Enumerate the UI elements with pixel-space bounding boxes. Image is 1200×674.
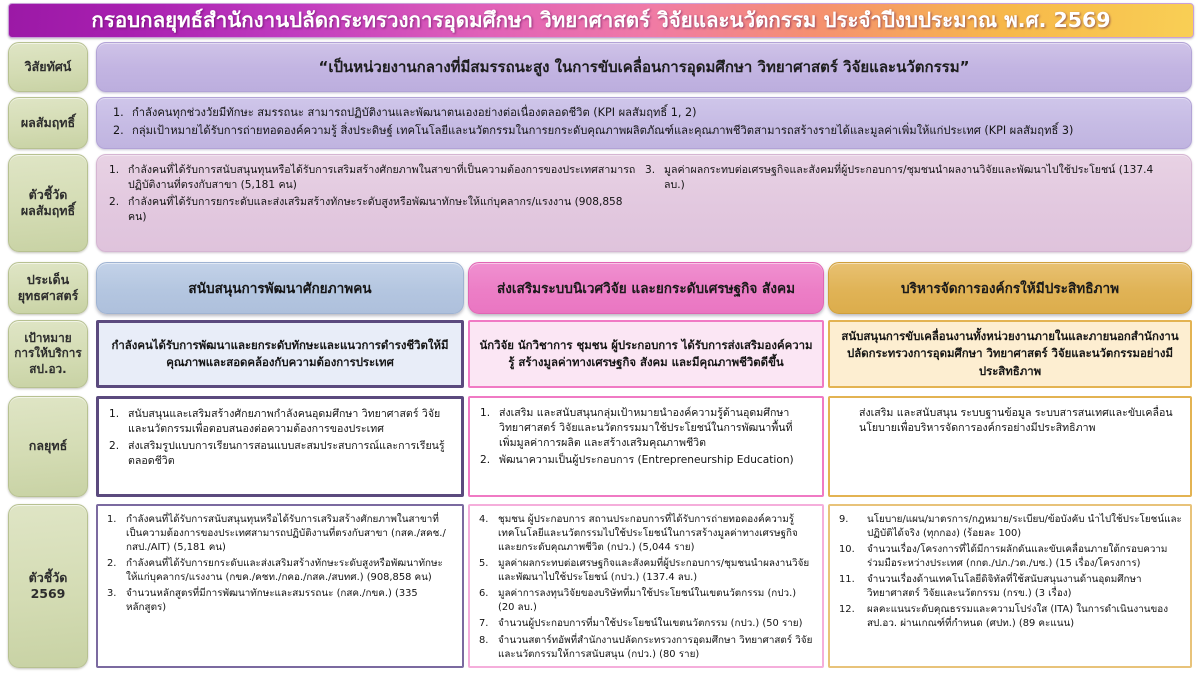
kpi-2-item: 5.มูลค่าผลกระทบต่อเศรษฐกิจและสังคมที่ผู้… <box>479 557 814 585</box>
kpi-3-item: 9.นโยบาย/แผน/มาตรการ/กฎหมาย/ระเบียบ/ข้อบ… <box>839 513 1182 541</box>
kpi-3-item-number: 9. <box>839 513 863 541</box>
outcome-item: 2.กลุ่มเป้าหมายได้รับการถ่ายทอดองค์ความร… <box>113 123 1179 139</box>
kpi-box-1: 1.กำลังคนที่ได้รับการสนับสนุนทุนหรือได้ร… <box>96 504 464 668</box>
kpi-1-item: 2.กำลังคนที่ได้รับการยกระดับและส่งเสริมส… <box>107 557 454 585</box>
rail-label-vision: วิสัยทัศน์ <box>8 42 88 92</box>
outcome-kpi-left-item-text: กำลังคนที่ได้รับการสนับสนุนทุนหรือได้รับ… <box>128 163 637 193</box>
kpi-2-item-number: 5. <box>479 557 494 585</box>
strategy-2-item: 1.ส่งเสริม และสนับสนุนกลุ่มเป้าหมายนำองค… <box>480 406 813 451</box>
strategic-framework-diagram: กรอบกลยุทธ์สำนักงานปลัดกระทรวงการอุดมศึก… <box>0 0 1200 674</box>
kpi-box-3: 9.นโยบาย/แผน/มาตรการ/กฎหมาย/ระเบียบ/ข้อบ… <box>828 504 1192 668</box>
strategy-2-item-text: พัฒนาความเป็นผู้ประกอบการ (Entrepreneurs… <box>499 453 813 468</box>
outcome-kpi-right-item-text: มูลค่าผลกระทบต่อเศรษฐกิจและสังคมที่ผู้ปร… <box>664 163 1173 193</box>
kpi-3-item-number: 10. <box>839 543 863 571</box>
rail-outcome-kpi-line1: ตัวชี้วัด <box>29 187 68 202</box>
strategy-2-item-number: 1. <box>480 406 495 451</box>
outcome-item-number: 2. <box>113 123 128 139</box>
strategy-1-item: 2.ส่งเสริมรูปแบบการเรียนการสอนแบบสะสมประ… <box>109 439 452 469</box>
strategy-box-1: 1.สนับสนุนและเสริมสร้างศักยภาพกำลังคนอุด… <box>96 396 464 497</box>
rail-label-service-goal: เป้าหมาย การให้บริการ สป.อว. <box>8 320 88 388</box>
kpi-list-3: 9.นโยบาย/แผน/มาตรการ/กฎหมาย/ระเบียบ/ข้อบ… <box>839 513 1182 632</box>
kpi-2-item-text: มูลค่าผลกระทบต่อเศรษฐกิจและสังคมที่ผู้ปร… <box>498 557 814 585</box>
vision-text: “เป็นหน่วยงานกลางที่มีสมรรถนะสูง ในการขั… <box>319 55 970 79</box>
outcome-kpi-left-item-number: 2. <box>109 195 124 225</box>
kpi-3-item-text: ผลคะแนนระดับคุณธรรมและความโปร่งใส (ITA) … <box>867 603 1182 631</box>
kpi-1-item-text: กำลังคนที่ได้รับการยกระดับและส่งเสริมสร้… <box>126 557 454 585</box>
strategy-3-item-number <box>840 406 855 436</box>
strategic-issue-2-label: ส่งเสริมระบบนิเวศวิจัย และยกระดับเศรษฐกิ… <box>497 277 795 299</box>
strategic-issue-1[interactable]: สนับสนุนการพัฒนาศักยภาพคน <box>96 262 464 314</box>
kpi-1-item: 1.กำลังคนที่ได้รับการสนับสนุนทุนหรือได้ร… <box>107 513 454 555</box>
kpi-2-item-number: 7. <box>479 617 494 631</box>
strategic-issue-2[interactable]: ส่งเสริมระบบนิเวศวิจัย และยกระดับเศรษฐกิ… <box>468 262 824 314</box>
service-goal-1-text: กำลังคนได้รับการพัฒนาและยกระดับทักษะและแ… <box>107 337 453 371</box>
kpi-2-item-text: มูลค่าการลงทุนวิจัยของบริษัทที่มาใช้ประโ… <box>498 587 814 615</box>
outcome-kpi-left-list: 1.กำลังคนที่ได้รับการสนับสนุนทุนหรือได้ร… <box>109 163 637 225</box>
strategy-2-item-text: ส่งเสริม และสนับสนุนกลุ่มเป้าหมายนำองค์ค… <box>499 406 813 451</box>
kpi-2-item-number: 6. <box>479 587 494 615</box>
outcome-item-text: กำลังคนทุกช่วงวัยมีทักษะ สมรรถนะ สามารถป… <box>132 105 1179 121</box>
strategic-issue-3-label: บริหารจัดการองค์กรให้มีประสิทธิภาพ <box>901 277 1119 299</box>
strategy-1-item-number: 2. <box>109 439 124 469</box>
kpi-2-item-number: 4. <box>479 513 494 555</box>
rail-goal-line2: การให้บริการ <box>14 346 82 360</box>
kpi-3-item: 11.จำนวนเรื่องด้านเทคโนโลยีดิจิทัลที่ใช้… <box>839 573 1182 601</box>
page-title: กรอบกลยุทธ์สำนักงานปลัดกระทรวงการอุดมศึก… <box>91 10 1110 31</box>
outcome-kpi-right-item: 3.มูลค่าผลกระทบต่อเศรษฐกิจและสังคมที่ผู้… <box>645 163 1173 193</box>
strategy-list-3: ส่งเสริม และสนับสนุน ระบบฐานข้อมูล ระบบส… <box>840 406 1181 436</box>
strategy-1-item-number: 1. <box>109 407 124 437</box>
strategy-2-item-number: 2. <box>480 453 495 468</box>
strategy-box-3: ส่งเสริม และสนับสนุน ระบบฐานข้อมูล ระบบส… <box>828 396 1192 497</box>
kpi-2-item-text: ชุมชน ผู้ประกอบการ สถานประกอบการที่ได้รั… <box>498 513 814 555</box>
service-goal-2: นักวิจัย นักวิชาการ ชุมชน ผู้ประกอบการ ไ… <box>468 320 824 388</box>
header-banner: กรอบกลยุทธ์สำนักงานปลัดกระทรวงการอุดมศึก… <box>8 3 1194 38</box>
kpi-1-item-number: 1. <box>107 513 122 555</box>
outcome-kpi-left-item-text: กำลังคนที่ได้รับการยกระดับและส่งเสริมสร้… <box>128 195 637 225</box>
outcome-kpi-left-item-number: 1. <box>109 163 124 193</box>
rail-issue-line1: ประเด็น <box>27 272 69 287</box>
strategy-list-2: 1.ส่งเสริม และสนับสนุนกลุ่มเป้าหมายนำองค… <box>480 406 813 468</box>
rail-kpi-line2: 2569 <box>31 586 66 601</box>
outcome-kpi-left-item: 1.กำลังคนที่ได้รับการสนับสนุนทุนหรือได้ร… <box>109 163 637 193</box>
kpi-2-item-text: จำนวนสตาร์ทอัพที่สำนักงานปลัดกระทรวงการอ… <box>498 634 814 662</box>
kpi-1-item: 3.จำนวนหลักสูตรที่มีการพัฒนาทักษะและสมรร… <box>107 587 454 615</box>
rail-label-outcome-kpi: ตัวชี้วัด ผลสัมฤทธิ์ <box>8 154 88 252</box>
kpi-1-item-number: 2. <box>107 557 122 585</box>
rail-label-strategic-issue: ประเด็น ยุทธศาสตร์ <box>8 262 88 314</box>
rail-goal-line1: เป้าหมาย <box>24 331 71 345</box>
strategic-issue-1-label: สนับสนุนการพัฒนาศักยภาพคน <box>188 277 371 299</box>
outcome-list: 1.กำลังคนทุกช่วงวัยมีทักษะ สมรรถนะ สามาร… <box>113 105 1179 139</box>
rail-label-outcome: ผลสัมฤทธิ์ <box>8 97 88 149</box>
rail-issue-text: ประเด็น ยุทธศาสตร์ <box>18 272 79 305</box>
strategy-1-item-text: สนับสนุนและเสริมสร้างศักยภาพกำลังคนอุดมศ… <box>128 407 452 437</box>
outcome-item-text: กลุ่มเป้าหมายได้รับการถ่ายทอดองค์ความรู้… <box>132 123 1179 139</box>
kpi-3-item-text: จำนวนเรื่องด้านเทคโนโลยีดิจิทัลที่ใช้สนั… <box>867 573 1182 601</box>
rail-goal-line3: สป.อว. <box>29 362 66 376</box>
kpi-3-item: 10.จำนวนเรื่อง/โครงการที่ได้มีการผลักดัน… <box>839 543 1182 571</box>
rail-kpi-text: ตัวชี้วัด 2569 <box>29 570 68 603</box>
rail-label-strategy-text: กลยุทธ์ <box>29 438 67 455</box>
rail-label-kpi-2569: ตัวชี้วัด 2569 <box>8 504 88 668</box>
strategy-2-item: 2.พัฒนาความเป็นผู้ประกอบการ (Entrepreneu… <box>480 453 813 468</box>
rail-issue-line2: ยุทธศาสตร์ <box>18 288 79 303</box>
outcome-item-number: 1. <box>113 105 128 121</box>
strategy-1-item-text: ส่งเสริมรูปแบบการเรียนการสอนแบบสะสมประสบ… <box>128 439 452 469</box>
kpi-2-item-number: 8. <box>479 634 494 662</box>
outcome-kpi-panel: 1.กำลังคนที่ได้รับการสนับสนุนทุนหรือได้ร… <box>96 154 1192 252</box>
strategic-issue-3[interactable]: บริหารจัดการองค์กรให้มีประสิทธิภาพ <box>828 262 1192 314</box>
kpi-list-2: 4.ชุมชน ผู้ประกอบการ สถานประกอบการที่ได้… <box>479 513 814 662</box>
kpi-3-item-number: 12. <box>839 603 863 631</box>
kpi-2-item: 7.จำนวนผู้ประกอบการที่มาใช้ประโยชน์ในเขต… <box>479 617 814 631</box>
rail-label-outcome-kpi-text: ตัวชี้วัด ผลสัมฤทธิ์ <box>21 187 75 220</box>
strategy-box-2: 1.ส่งเสริม และสนับสนุนกลุ่มเป้าหมายนำองค… <box>468 396 824 497</box>
rail-outcome-kpi-line2: ผลสัมฤทธิ์ <box>21 203 75 218</box>
kpi-2-item: 6.มูลค่าการลงทุนวิจัยของบริษัทที่มาใช้ปร… <box>479 587 814 615</box>
kpi-1-item-text: กำลังคนที่ได้รับการสนับสนุนทุนหรือได้รับ… <box>126 513 454 555</box>
kpi-box-2: 4.ชุมชน ผู้ประกอบการ สถานประกอบการที่ได้… <box>468 504 824 668</box>
outcome-kpi-left-item: 2.กำลังคนที่ได้รับการยกระดับและส่งเสริมส… <box>109 195 637 225</box>
outcome-item: 1.กำลังคนทุกช่วงวัยมีทักษะ สมรรถนะ สามาร… <box>113 105 1179 121</box>
outcome-panel: 1.กำลังคนทุกช่วงวัยมีทักษะ สมรรถนะ สามาร… <box>96 97 1192 149</box>
rail-goal-text: เป้าหมาย การให้บริการ สป.อว. <box>14 331 82 378</box>
kpi-3-item-number: 11. <box>839 573 863 601</box>
kpi-1-item-number: 3. <box>107 587 122 615</box>
outcome-kpi-right-list: 3.มูลค่าผลกระทบต่อเศรษฐกิจและสังคมที่ผู้… <box>645 163 1173 193</box>
strategy-1-item: 1.สนับสนุนและเสริมสร้างศักยภาพกำลังคนอุด… <box>109 407 452 437</box>
rail-kpi-line1: ตัวชี้วัด <box>29 570 68 585</box>
strategy-3-item-text: ส่งเสริม และสนับสนุน ระบบฐานข้อมูล ระบบส… <box>859 406 1181 436</box>
strategy-list-1: 1.สนับสนุนและเสริมสร้างศักยภาพกำลังคนอุด… <box>109 407 452 469</box>
rail-label-vision-text: วิสัยทัศน์ <box>25 59 72 76</box>
service-goal-2-text: นักวิจัย นักวิชาการ ชุมชน ผู้ประกอบการ ไ… <box>478 337 814 371</box>
kpi-2-item: 8.จำนวนสตาร์ทอัพที่สำนักงานปลัดกระทรวงกา… <box>479 634 814 662</box>
kpi-3-item: 12.ผลคะแนนระดับคุณธรรมและความโปร่งใส (IT… <box>839 603 1182 631</box>
kpi-3-item-text: นโยบาย/แผน/มาตรการ/กฎหมาย/ระเบียบ/ข้อบัง… <box>867 513 1182 541</box>
service-goal-3-text: สนับสนุนการขับเคลื่อนงานทั้งหน่วยงานภายใ… <box>838 328 1182 379</box>
kpi-2-item-text: จำนวนผู้ประกอบการที่มาใช้ประโยชน์ในเขตนว… <box>498 617 814 631</box>
kpi-1-item-text: จำนวนหลักสูตรที่มีการพัฒนาทักษะและสมรรถน… <box>126 587 454 615</box>
vision-statement: “เป็นหน่วยงานกลางที่มีสมรรถนะสูง ในการขั… <box>96 42 1192 92</box>
rail-label-strategy: กลยุทธ์ <box>8 396 88 497</box>
strategy-3-item: ส่งเสริม และสนับสนุน ระบบฐานข้อมูล ระบบส… <box>840 406 1181 436</box>
service-goal-1: กำลังคนได้รับการพัฒนาและยกระดับทักษะและแ… <box>96 320 464 388</box>
rail-label-outcome-text: ผลสัมฤทธิ์ <box>21 115 75 132</box>
service-goal-3: สนับสนุนการขับเคลื่อนงานทั้งหน่วยงานภายใ… <box>828 320 1192 388</box>
outcome-kpi-right-item-number: 3. <box>645 163 660 193</box>
kpi-list-1: 1.กำลังคนที่ได้รับการสนับสนุนทุนหรือได้ร… <box>107 513 454 615</box>
kpi-3-item-text: จำนวนเรื่อง/โครงการที่ได้มีการผลักดันและ… <box>867 543 1182 571</box>
kpi-2-item: 4.ชุมชน ผู้ประกอบการ สถานประกอบการที่ได้… <box>479 513 814 555</box>
